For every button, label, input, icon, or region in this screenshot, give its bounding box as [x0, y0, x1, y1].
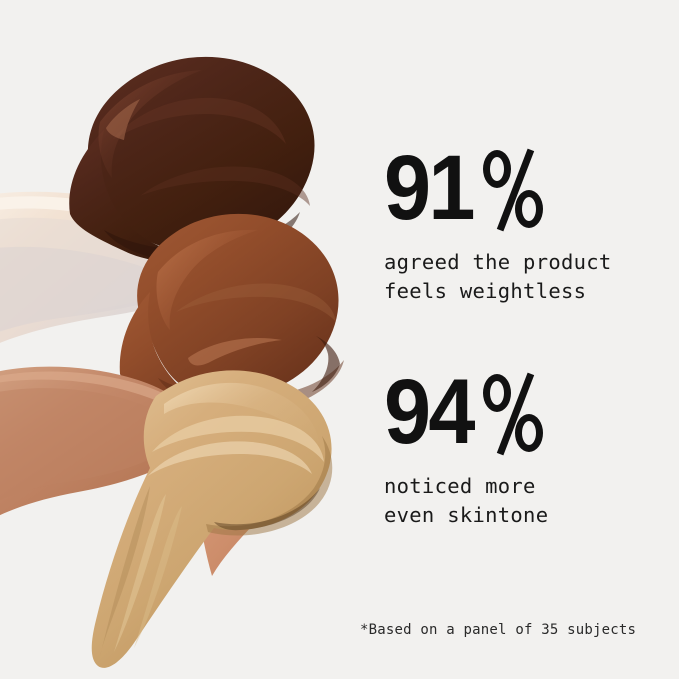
stat-94-percent: 94 [384, 370, 679, 462]
claim-block-1: 91 agreed the product feels weightless [384, 146, 679, 306]
percent-ring-bottom [515, 414, 543, 452]
claims-column: 91 agreed the product feels weightless 9… [384, 0, 679, 679]
claim-block-2: 94 noticed more even skintone [384, 370, 679, 530]
claim-description-2: noticed more even skintone [384, 462, 679, 530]
claim-line: feels weightless [384, 277, 679, 306]
percent-ring-top [483, 374, 511, 412]
stat-number-1: 91 [384, 146, 473, 231]
footnote-disclaimer: *Based on a panel of 35 subjects [360, 622, 670, 638]
claim-line: noticed more [384, 472, 679, 501]
percent-ring-bottom [515, 190, 543, 228]
stat-91-percent: 91 [384, 146, 679, 238]
stat-number-2: 94 [384, 370, 473, 455]
product-claims-poster: 91 agreed the product feels weightless 9… [0, 0, 679, 679]
claim-line: even skintone [384, 501, 679, 530]
percent-ring-top [483, 150, 511, 188]
foundation-swatch-artwork [0, 0, 380, 679]
percent-symbol-2 [482, 370, 548, 462]
percent-symbol-1 [482, 146, 548, 238]
claim-description-1: agreed the product feels weightless [384, 238, 679, 306]
claim-line: agreed the product [384, 248, 679, 277]
